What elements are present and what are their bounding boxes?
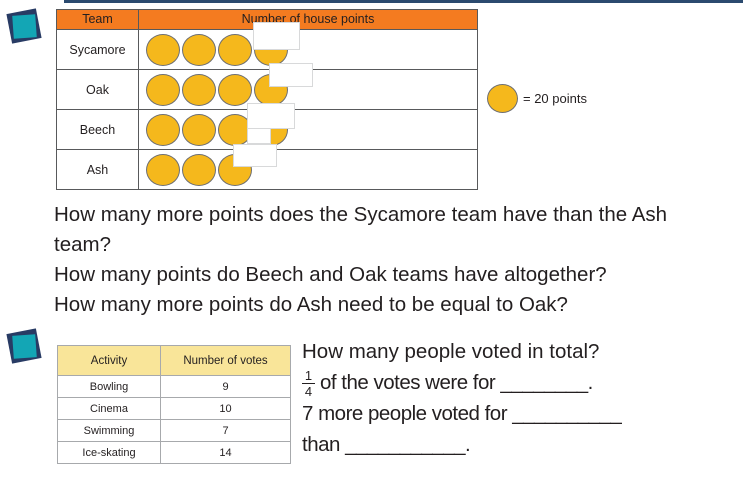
three-quarter-circle-symbol [218,154,252,186]
fraction-one-quarter: 1 4 [302,369,315,399]
question-item: How many people voted in total? [302,336,738,367]
key-label: = 20 points [523,91,587,106]
table-row: Bowling 9 [58,376,291,398]
full-circle-symbol [182,154,216,186]
votes-cell: 14 [161,442,291,464]
marker-front-square [12,14,37,39]
question-item-fraction: 1 4 of the votes were for ________. [302,367,738,398]
table-row: Ash [57,150,478,190]
votes-cell: 9 [161,376,291,398]
question-text: of the votes were for ________. [320,367,593,398]
full-circle-symbol [146,34,180,66]
question-item: How many points do Beech and Oak teams h… [54,260,694,290]
quarter-circle-symbol [254,114,288,146]
symbol-mask [247,103,295,129]
team-name-cell: Ash [57,150,139,190]
symbol-strip [139,70,477,109]
team-name-cell: Beech [57,110,139,150]
full-circle-symbol [218,74,252,106]
symbols-cell [139,70,478,110]
symbol-mask [253,22,300,50]
team-name-cell: Oak [57,70,139,110]
question-item: How many more points does the Sycamore t… [54,200,694,260]
full-circle-symbol [218,34,252,66]
votes-questions: How many people voted in total? 1 4 of t… [302,336,738,460]
full-circle-symbol [146,154,180,186]
table-row: Ice-skating 14 [58,442,291,464]
column-header-team: Team [57,10,139,30]
fraction-denominator: 4 [305,384,312,398]
diamond-square-marker-icon [4,6,48,50]
team-name-cell: Sycamore [57,30,139,70]
question-item: How many more points do Ash need to be e… [54,290,694,320]
table-row: Swimming 7 [58,420,291,442]
pictogram-questions: How many more points does the Sycamore t… [54,200,694,320]
symbols-cell [139,150,478,190]
activity-cell: Bowling [58,376,161,398]
column-header-votes: Number of votes [161,346,291,376]
full-circle-symbol [182,74,216,106]
column-header-activity: Activity [58,346,161,376]
votes-cell: 10 [161,398,291,420]
diamond-square-marker-icon [4,326,48,370]
column-header-points: Number of house points [139,10,478,30]
full-circle-symbol [146,74,180,106]
question-item: than ___________. [302,429,738,460]
activity-cell: Cinema [58,398,161,420]
table-row: Cinema 10 [58,398,291,420]
activity-votes-table: Activity Number of votes Bowling 9 Cinem… [57,345,291,464]
question-item: 7 more people voted for __________ [302,398,738,429]
table-header-row: Activity Number of votes [58,346,291,376]
activity-cell: Swimming [58,420,161,442]
activity-cell: Ice-skating [58,442,161,464]
three-quarter-circle-symbol [254,74,288,106]
table-row: Sycamore [57,30,478,70]
full-circle-symbol [182,34,216,66]
top-divider-rule [64,0,743,3]
fraction-numerator: 1 [305,369,312,383]
key-circle-symbol-icon [487,84,518,113]
symbol-strip [139,110,477,149]
full-circle-symbol [146,114,180,146]
symbol-mask [269,63,313,87]
house-points-pictogram-table: Team Number of house points Sycamore [56,9,478,190]
pictogram-key: = 20 points [487,84,587,113]
symbols-cell [139,110,478,150]
symbol-mask [233,144,277,167]
marker-front-square [12,334,37,359]
votes-cell: 7 [161,420,291,442]
half-circle-symbol [254,34,288,66]
full-circle-symbol [182,114,216,146]
symbol-strip [139,150,477,189]
